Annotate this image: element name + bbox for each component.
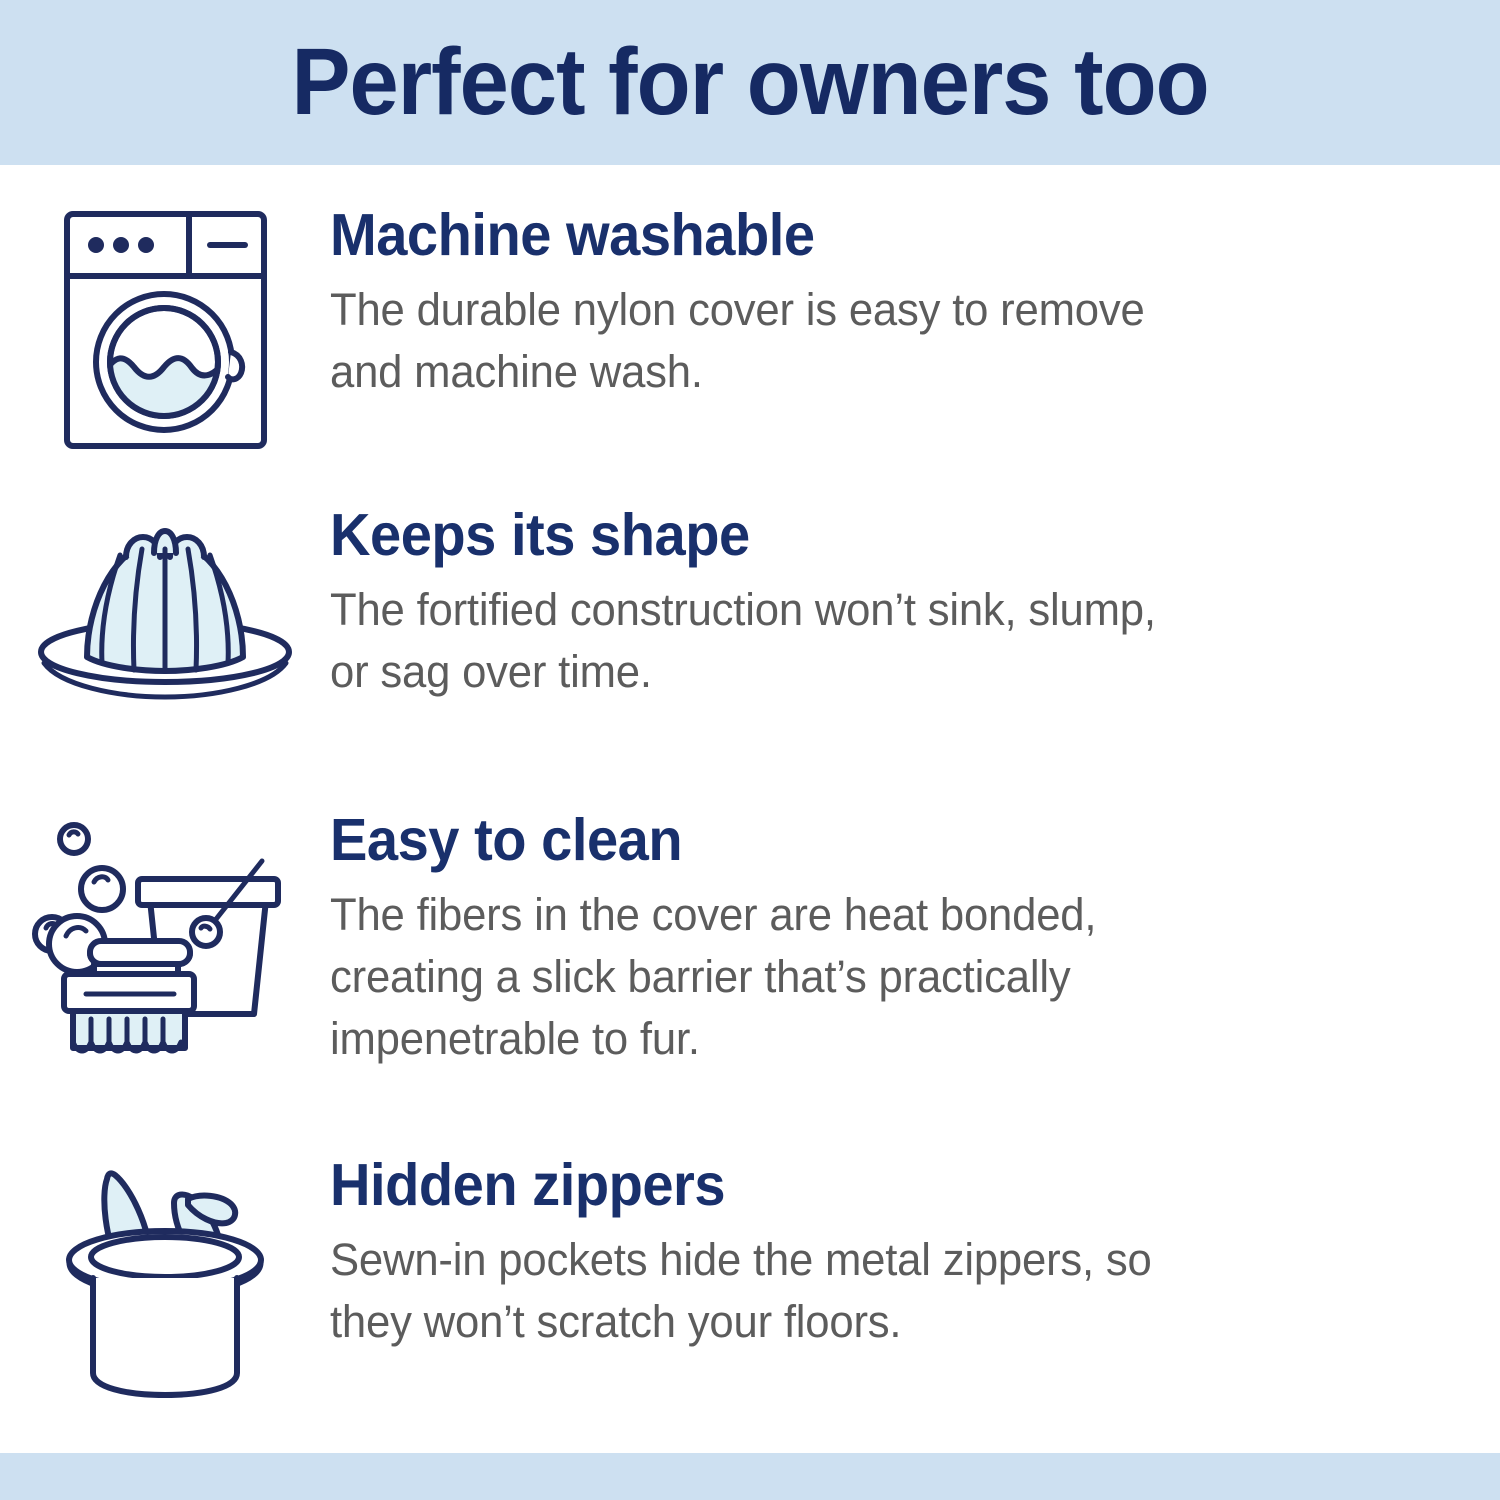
- scrub-brush-bucket-icon: [0, 810, 330, 1066]
- feature-body: The durable nylon cover is easy to remov…: [330, 279, 1203, 403]
- feature-body: Sewn-in pockets hide the metal zippers, …: [330, 1229, 1203, 1353]
- gelatin-mold-icon: [0, 505, 330, 703]
- feature-row: Easy to clean The fibers in the cover ar…: [0, 810, 1500, 1155]
- feature-heading: Easy to clean: [330, 810, 1185, 870]
- feature-heading: Hidden zippers: [330, 1155, 1185, 1215]
- feature-row: Keeps its shape The fortified constructi…: [0, 505, 1500, 810]
- laundry-hamper-icon: [0, 1155, 330, 1401]
- feature-row: Machine washable The durable nylon cover…: [0, 205, 1500, 505]
- feature-heading: Machine washable: [330, 205, 1185, 265]
- header-band: Perfect for owners too: [0, 0, 1500, 165]
- feature-text: Keeps its shape The fortified constructi…: [330, 505, 1300, 703]
- feature-body: The fibers in the cover are heat bonded,…: [330, 884, 1203, 1070]
- feature-heading: Keeps its shape: [330, 505, 1185, 565]
- washing-machine-icon: [0, 205, 330, 455]
- promo-feature-page: Perfect for owners too: [0, 0, 1500, 1500]
- feature-text: Easy to clean The fibers in the cover ar…: [330, 810, 1300, 1070]
- feature-text: Machine washable The durable nylon cover…: [330, 205, 1300, 403]
- feature-text: Hidden zippers Sewn-in pockets hide the …: [330, 1155, 1300, 1353]
- feature-row: Hidden zippers Sewn-in pockets hide the …: [0, 1155, 1500, 1435]
- feature-body: The fortified construction won’t sink, s…: [330, 579, 1203, 703]
- feature-list: Machine washable The durable nylon cover…: [0, 165, 1500, 1453]
- footer-band: [0, 1453, 1500, 1500]
- page-title: Perfect for owners too: [291, 35, 1208, 130]
